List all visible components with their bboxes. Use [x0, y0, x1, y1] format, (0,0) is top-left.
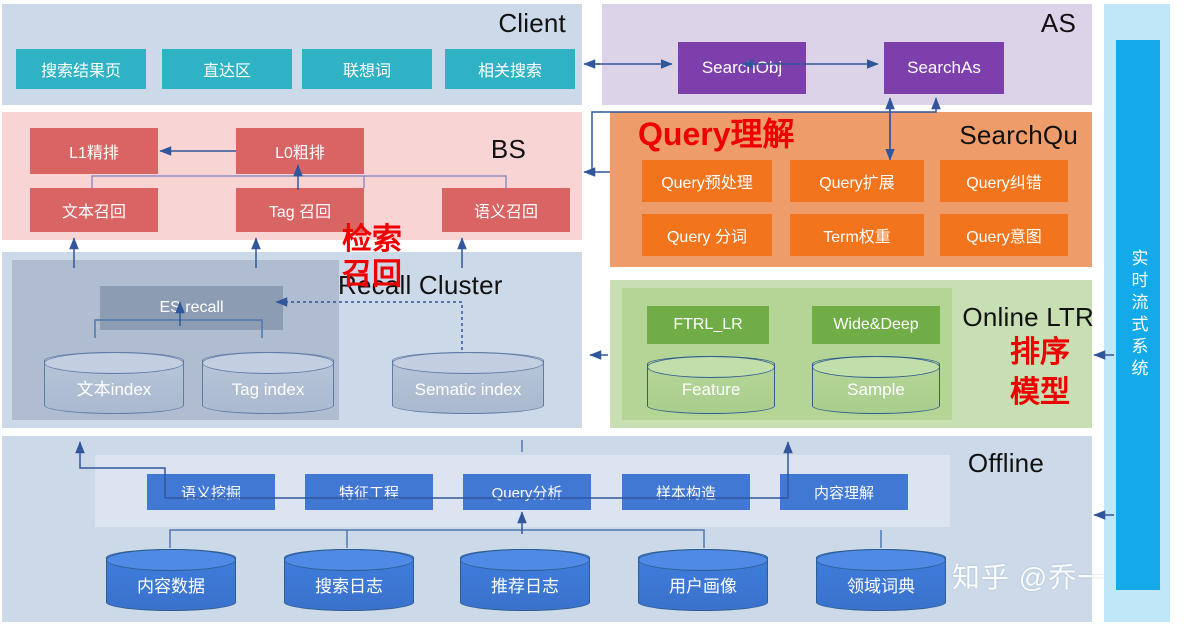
- client-title: Client: [498, 8, 566, 39]
- retrieval-callout-line2: 召回: [342, 260, 402, 290]
- ranking-callout-line1: 排序: [1010, 338, 1070, 368]
- searchqu-item-expansion[interactable]: Query扩展: [790, 160, 924, 202]
- streaming-label: 实时流式系统: [1126, 249, 1151, 381]
- client-panel: Client 搜索结果页 直达区 联想词 相关搜索: [2, 4, 582, 105]
- offline-store-search-log-label: 搜索日志: [315, 572, 383, 611]
- ltr-model-wide-deep[interactable]: Wide&Deep: [812, 306, 940, 344]
- index-sematic-label: Sematic index: [415, 380, 522, 414]
- offline-store-domain-dict[interactable]: 领域词典: [816, 549, 946, 611]
- index-tag-label: Tag index: [232, 380, 305, 414]
- offline-task-query-analysis[interactable]: Query分析: [463, 474, 591, 510]
- cylinder-top: [816, 549, 946, 571]
- ltr-store-feature[interactable]: Feature: [647, 356, 775, 414]
- index-tag[interactable]: Tag index: [202, 352, 334, 414]
- cylinder-top: [202, 352, 334, 374]
- offline-store-domain-dict-label: 领域词典: [847, 572, 915, 611]
- searchqu-panel: SearchQu Query理解 Query预处理 Query扩展 Query纠…: [610, 112, 1092, 267]
- offline-task-feature-engineering[interactable]: 特征工程: [305, 474, 433, 510]
- searchqu-item-segmentation[interactable]: Query 分词: [642, 214, 772, 256]
- cylinder-top: [647, 356, 775, 378]
- offline-tasks-group: 语义挖掘 特征工程 Query分析 样本构造 内容理解: [95, 455, 950, 527]
- as-panel: AS SearchObj SearchAs: [602, 4, 1092, 105]
- cylinder-top: [106, 549, 236, 571]
- as-item-searchobj[interactable]: SearchObj: [678, 42, 806, 94]
- ranking-callout-line2: 模型: [1010, 378, 1070, 408]
- bs-item-l1-rank[interactable]: L1精排: [30, 128, 158, 174]
- cylinder-top: [44, 352, 184, 374]
- recall-inner-group: ES recall 文本index Tag index: [12, 260, 339, 420]
- as-title: AS: [1041, 8, 1076, 39]
- cylinder-top: [460, 549, 590, 571]
- offline-store-recommend-log[interactable]: 推荐日志: [460, 549, 590, 611]
- client-item-search-results[interactable]: 搜索结果页: [16, 49, 146, 89]
- bs-item-semantic-recall[interactable]: 语义召回: [442, 188, 570, 232]
- ltr-store-feature-label: Feature: [682, 380, 741, 414]
- cylinder-top: [638, 549, 768, 571]
- streaming-bar[interactable]: 实时流式系统: [1116, 40, 1160, 590]
- online-ltr-panel: FTRL_LR Wide&Deep Feature Sample Online …: [610, 280, 1092, 428]
- index-sematic[interactable]: Sematic index: [392, 352, 544, 414]
- ltr-store-sample-label: Sample: [847, 380, 905, 414]
- watermark: 知乎 @乔一: [952, 556, 1106, 596]
- cylinder-top: [392, 352, 544, 374]
- recall-cluster-panel: ES recall 文本index Tag index Sematic inde…: [2, 252, 582, 428]
- offline-task-semantic-mining[interactable]: 语义挖掘: [147, 474, 275, 510]
- cylinder-top: [812, 356, 940, 378]
- offline-store-content-data[interactable]: 内容数据: [106, 549, 236, 611]
- architecture-diagram: Client 搜索结果页 直达区 联想词 相关搜索 AS SearchObj S…: [0, 0, 1194, 626]
- offline-store-search-log[interactable]: 搜索日志: [284, 549, 414, 611]
- ltr-store-sample[interactable]: Sample: [812, 356, 940, 414]
- es-recall-box[interactable]: ES recall: [100, 286, 283, 330]
- client-item-related-search[interactable]: 相关搜索: [445, 49, 575, 89]
- index-text-label: 文本index: [77, 375, 152, 414]
- searchqu-item-preprocess[interactable]: Query预处理: [642, 160, 772, 202]
- bs-title: BS: [491, 134, 526, 165]
- ltr-model-ftrl-lr[interactable]: FTRL_LR: [647, 306, 769, 344]
- offline-title: Offline: [968, 448, 1044, 479]
- offline-task-sample-construction[interactable]: 样本构造: [622, 474, 750, 510]
- searchqu-item-intent[interactable]: Query意图: [940, 214, 1068, 256]
- online-ltr-title: Online LTR: [962, 302, 1094, 333]
- searchqu-title: SearchQu: [959, 120, 1078, 151]
- offline-store-user-profile-label: 用户画像: [669, 572, 737, 611]
- ltr-inner-group: FTRL_LR Wide&Deep Feature Sample: [622, 288, 952, 420]
- searchqu-item-term-weight[interactable]: Term权重: [790, 214, 924, 256]
- index-text[interactable]: 文本index: [44, 352, 184, 414]
- retrieval-callout-line1: 检索: [342, 225, 402, 255]
- bs-item-text-recall[interactable]: 文本召回: [30, 188, 158, 232]
- offline-store-user-profile[interactable]: 用户画像: [638, 549, 768, 611]
- cylinder-top: [284, 549, 414, 571]
- offline-task-content-understanding[interactable]: 内容理解: [780, 474, 908, 510]
- offline-panel: Offline 语义挖掘 特征工程 Query分析 样本构造 内容理解 内容数据…: [2, 436, 1092, 622]
- client-item-direct-zone[interactable]: 直达区: [162, 49, 292, 89]
- searchqu-callout: Query理解: [638, 118, 795, 150]
- searchqu-item-correction[interactable]: Query纠错: [940, 160, 1068, 202]
- client-item-suggest-words[interactable]: 联想词: [302, 49, 432, 89]
- as-item-searchas[interactable]: SearchAs: [884, 42, 1004, 94]
- offline-store-content-data-label: 内容数据: [137, 572, 205, 611]
- bs-item-l0-rank[interactable]: L0粗排: [236, 128, 364, 174]
- bs-panel: BS L1精排 L0粗排 文本召回 Tag 召回 语义召回: [2, 112, 582, 240]
- offline-store-recommend-log-label: 推荐日志: [491, 572, 559, 611]
